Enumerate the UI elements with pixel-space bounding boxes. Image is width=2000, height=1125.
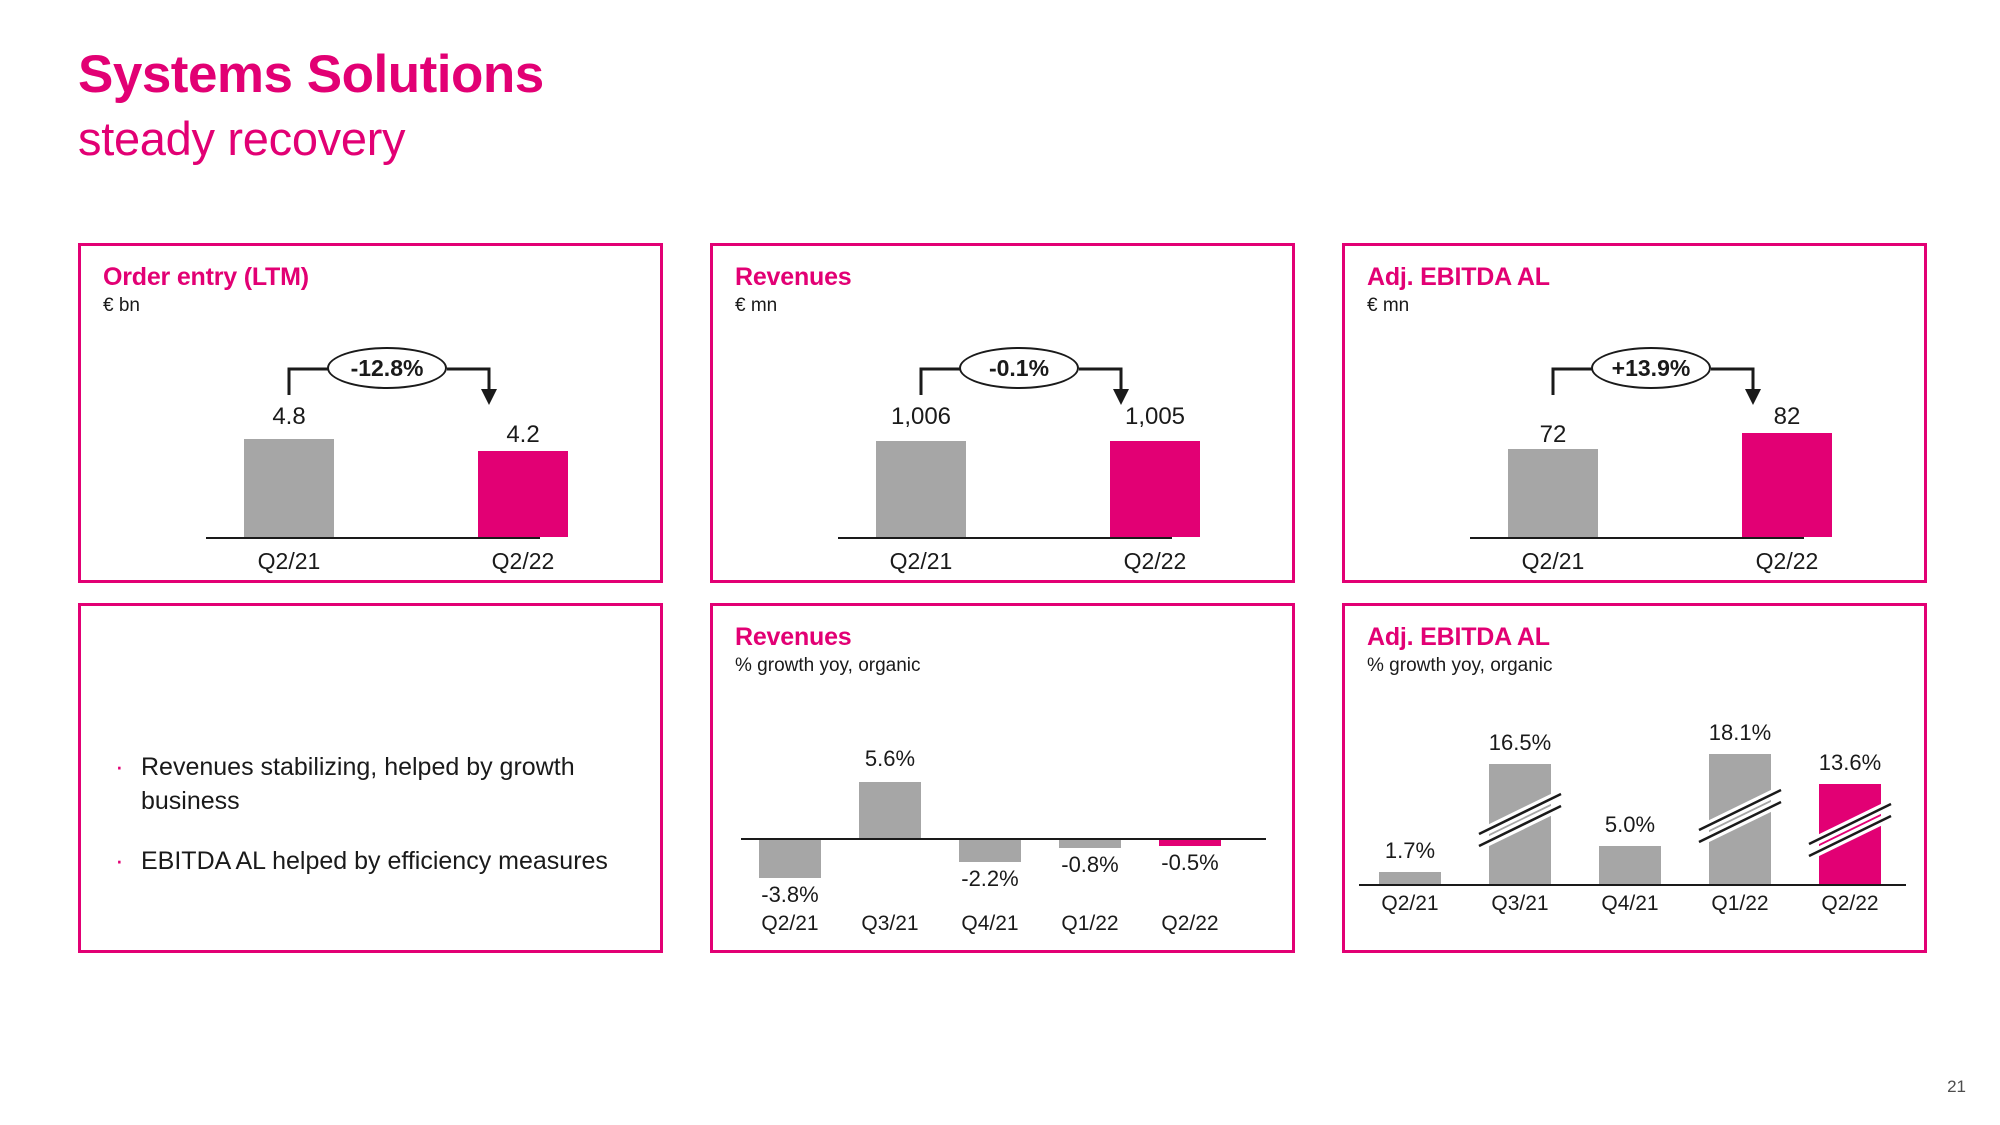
- bullet-dot-icon: ·: [115, 751, 141, 779]
- panel-commentary: · Revenues stabilizing, helped by growth…: [78, 603, 663, 953]
- panel-unit: % growth yoy, organic: [1367, 656, 1553, 676]
- panel-title: Revenues: [735, 624, 921, 650]
- list-item-label: Revenues stabilizing, helped by growth b…: [141, 751, 632, 819]
- category-label: Q4/21: [1575, 892, 1685, 916]
- bar-value-label: 82: [1727, 403, 1847, 431]
- bar-value-label: 16.5%: [1465, 730, 1575, 756]
- growth-callout: -0.1%: [863, 347, 1203, 407]
- callout-value: -12.8%: [327, 347, 447, 389]
- panel-header: Revenues € mn: [735, 264, 852, 316]
- bar-q2-21: [876, 441, 966, 537]
- panel-header: Order entry (LTM) € bn: [103, 264, 309, 316]
- bar-q2-21: [1379, 872, 1441, 884]
- bar-value-label: 13.6%: [1795, 750, 1905, 776]
- axis-baseline: [1470, 537, 1804, 539]
- category-label: Q2/22: [443, 548, 603, 575]
- category-label: Q3/21: [835, 912, 945, 936]
- bar-value-label: 1.7%: [1355, 838, 1465, 864]
- callout-value: -0.1%: [959, 347, 1079, 389]
- bar-q2-22: [1159, 840, 1221, 846]
- bar-q4-21: [1599, 846, 1661, 884]
- bar-q3-21: [1489, 764, 1551, 884]
- bar-q2-21: [759, 840, 821, 878]
- page-number: 21: [1947, 1077, 1966, 1097]
- bar-q2-22: [1742, 433, 1832, 537]
- panel-ebitda-growth: Adj. EBITDA AL % growth yoy, organic 1.7…: [1342, 603, 1927, 953]
- bar-value-label: 1,006: [861, 403, 981, 431]
- axis-baseline: [838, 537, 1172, 539]
- chart-ebitda-growth: 1.7% 16.5% 5.0% 18.1%: [1345, 716, 1924, 946]
- bullet-dot-icon: ·: [115, 845, 141, 873]
- panel-title: Adj. EBITDA AL: [1367, 624, 1553, 650]
- category-label: Q2/21: [841, 548, 1001, 575]
- panel-revenues-absolute: Revenues € mn -0.1% 1,006 1,005 Q2/21 Q2…: [710, 243, 1295, 583]
- chart-revenues-growth: -3.8% 5.6% -2.2% -0.8% -0.5% Q2/21 Q3/21…: [713, 716, 1292, 946]
- category-label: Q1/22: [1035, 912, 1145, 936]
- growth-callout: -12.8%: [231, 347, 571, 407]
- bar-q2-22: [478, 451, 568, 537]
- panel-unit: € mn: [735, 296, 852, 316]
- bar-q2-22: [1110, 441, 1200, 537]
- panel-title: Adj. EBITDA AL: [1367, 264, 1550, 290]
- panel-unit: % growth yoy, organic: [735, 656, 921, 676]
- bar-value-label: -3.8%: [735, 882, 845, 908]
- category-label: Q2/22: [1707, 548, 1867, 575]
- panel-header: Revenues % growth yoy, organic: [735, 624, 921, 676]
- category-label: Q2/22: [1135, 912, 1245, 936]
- commentary-list: · Revenues stabilizing, helped by growth…: [115, 751, 632, 904]
- bar-value-label: -0.8%: [1035, 852, 1145, 878]
- title-block: Systems Solutions steady recovery: [78, 48, 544, 162]
- category-label: Q2/21: [1355, 892, 1465, 916]
- bar-q3-21: [859, 782, 921, 838]
- bar-q2-21: [1508, 449, 1598, 537]
- bar-q2-21: [244, 439, 334, 537]
- list-item-label: EBITDA AL helped by efficiency measures: [141, 845, 608, 879]
- bar-value-label: -2.2%: [935, 866, 1045, 892]
- axis-baseline: [206, 537, 540, 539]
- bar-q4-21: [959, 840, 1021, 862]
- callout-value: +13.9%: [1591, 347, 1711, 389]
- bar-value-label: -0.5%: [1135, 850, 1245, 876]
- bar-q1-22: [1709, 754, 1771, 884]
- bar-q1-22: [1059, 840, 1121, 848]
- chart-ebitda-absolute: +13.9% 72 82 Q2/21 Q2/22: [1345, 341, 1924, 581]
- category-label: Q1/22: [1685, 892, 1795, 916]
- bar-value-label: 18.1%: [1685, 720, 1795, 746]
- bar-value-label: 5.0%: [1575, 812, 1685, 838]
- panel-header: Adj. EBITDA AL € mn: [1367, 264, 1550, 316]
- panel-title: Order entry (LTM): [103, 264, 309, 290]
- panel-unit: € mn: [1367, 296, 1550, 316]
- category-label: Q3/21: [1465, 892, 1575, 916]
- page-subtitle: steady recovery: [78, 115, 544, 162]
- bar-value-label: 4.8: [229, 403, 349, 431]
- panel-unit: € bn: [103, 296, 309, 316]
- axis-baseline: [1359, 884, 1906, 886]
- list-item: · Revenues stabilizing, helped by growth…: [115, 751, 632, 819]
- list-item: · EBITDA AL helped by efficiency measure…: [115, 845, 632, 879]
- category-label: Q2/22: [1075, 548, 1235, 575]
- bar-value-label: 72: [1493, 421, 1613, 449]
- category-label: Q2/21: [209, 548, 369, 575]
- category-label: Q4/21: [935, 912, 1045, 936]
- bar-value-label: 1,005: [1095, 403, 1215, 431]
- chart-revenues-absolute: -0.1% 1,006 1,005 Q2/21 Q2/22: [713, 341, 1292, 581]
- panel-order-entry: Order entry (LTM) € bn -12.8% 4.8 4.2 Q2…: [78, 243, 663, 583]
- panel-ebitda-absolute: Adj. EBITDA AL € mn +13.9% 72 82 Q2/21 Q…: [1342, 243, 1927, 583]
- category-label: Q2/21: [735, 912, 845, 936]
- panel-title: Revenues: [735, 264, 852, 290]
- bar-value-label: 5.6%: [835, 746, 945, 772]
- page-title: Systems Solutions: [78, 48, 544, 101]
- growth-callout: +13.9%: [1495, 347, 1835, 407]
- chart-order-entry: -12.8% 4.8 4.2 Q2/21 Q2/22: [81, 341, 660, 581]
- category-label: Q2/22: [1795, 892, 1905, 916]
- bar-q2-22: [1819, 784, 1881, 884]
- panel-header: Adj. EBITDA AL % growth yoy, organic: [1367, 624, 1553, 676]
- bar-value-label: 4.2: [463, 421, 583, 449]
- category-label: Q2/21: [1473, 548, 1633, 575]
- panel-revenues-growth: Revenues % growth yoy, organic -3.8% 5.6…: [710, 603, 1295, 953]
